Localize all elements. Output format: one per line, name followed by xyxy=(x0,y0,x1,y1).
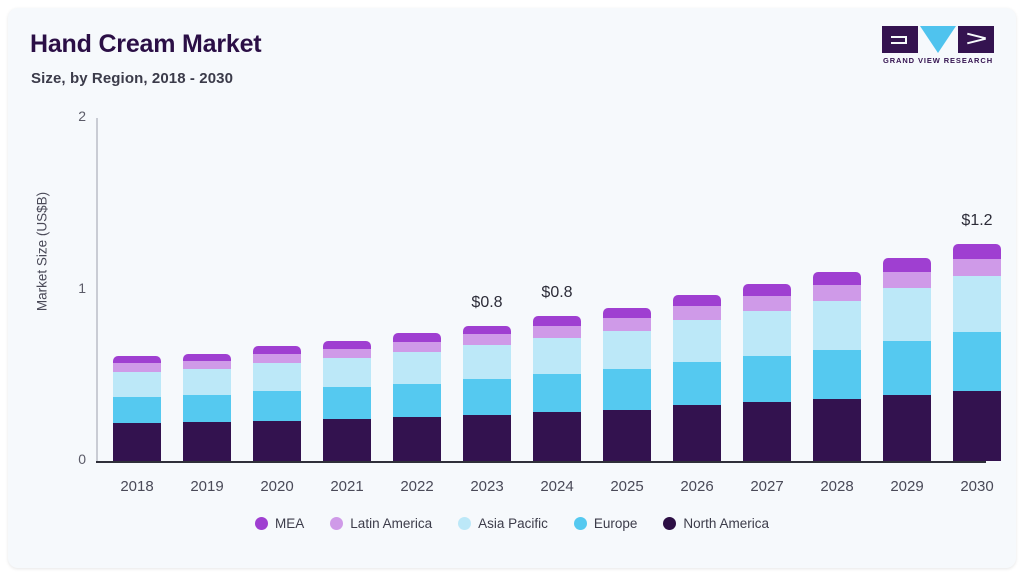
bar-segment[interactable] xyxy=(463,345,511,378)
bar-segment[interactable] xyxy=(323,341,371,349)
bar-segment[interactable] xyxy=(113,397,161,424)
bar-segment[interactable] xyxy=(603,331,651,370)
bar-segment[interactable] xyxy=(813,285,861,300)
bar-stack[interactable] xyxy=(673,295,721,461)
bar-segment[interactable] xyxy=(673,320,721,362)
bar-segment[interactable] xyxy=(953,276,1001,333)
bar-segment[interactable] xyxy=(743,284,791,296)
bar-stack[interactable] xyxy=(393,333,441,461)
bar-segment[interactable] xyxy=(883,395,931,461)
bar-stack[interactable] xyxy=(183,354,231,461)
bar-stack[interactable] xyxy=(253,346,301,461)
bar-segment[interactable] xyxy=(463,326,511,335)
x-axis-tick-label: 2020 xyxy=(242,478,312,495)
bar-segment[interactable] xyxy=(183,422,231,461)
bar-segment[interactable] xyxy=(463,334,511,345)
legend-label: Asia Pacific xyxy=(478,516,548,531)
bar-segment[interactable] xyxy=(393,352,441,384)
x-axis-tick-label: 2028 xyxy=(802,478,872,495)
bar-stack[interactable] xyxy=(463,326,511,461)
bar-segment[interactable] xyxy=(743,311,791,356)
bar-segment[interactable] xyxy=(533,316,581,325)
bar-segment[interactable] xyxy=(533,338,581,374)
x-axis-tick-label: 2023 xyxy=(452,478,522,495)
bar-segment[interactable] xyxy=(393,417,441,461)
bar-segment[interactable] xyxy=(393,342,441,352)
bar-stack[interactable] xyxy=(533,316,581,461)
x-axis-tick-label: 2024 xyxy=(522,478,592,495)
legend-swatch-icon xyxy=(330,517,343,530)
legend-swatch-icon xyxy=(458,517,471,530)
bar-segment[interactable] xyxy=(533,326,581,338)
bar-segment[interactable] xyxy=(883,258,931,272)
bar-segment[interactable] xyxy=(673,306,721,320)
bar-segment[interactable] xyxy=(253,346,301,354)
bar-segment[interactable] xyxy=(183,395,231,422)
x-axis-tick-label: 2029 xyxy=(872,478,942,495)
chart-card: Hand Cream Market Size, by Region, 2018 … xyxy=(8,8,1016,568)
bar-segment[interactable] xyxy=(603,318,651,331)
bar-segment[interactable] xyxy=(533,412,581,461)
bar-stack[interactable] xyxy=(883,258,931,461)
bar-value-label: $0.8 xyxy=(512,284,602,302)
bar-segment[interactable] xyxy=(253,354,301,363)
x-axis-tick-label: 2027 xyxy=(732,478,802,495)
bar-stack[interactable] xyxy=(603,308,651,461)
bar-segment[interactable] xyxy=(743,356,791,402)
bar-segment[interactable] xyxy=(603,410,651,461)
legend-swatch-icon xyxy=(574,517,587,530)
bar-segment[interactable] xyxy=(323,387,371,419)
bar-stack[interactable] xyxy=(743,284,791,461)
bar-stack[interactable] xyxy=(113,356,161,461)
bar-segment[interactable] xyxy=(953,391,1001,461)
bar-segment[interactable] xyxy=(603,369,651,409)
bar-segment[interactable] xyxy=(323,419,371,461)
x-axis-tick-label: 2021 xyxy=(312,478,382,495)
bar-segment[interactable] xyxy=(813,399,861,461)
legend-item[interactable]: North America xyxy=(663,516,769,531)
bar-segment[interactable] xyxy=(253,363,301,390)
bar-segment[interactable] xyxy=(813,350,861,400)
bar-segment[interactable] xyxy=(743,296,791,311)
bar-segment[interactable] xyxy=(393,384,441,417)
bar-segment[interactable] xyxy=(113,356,161,363)
legend-item[interactable]: MEA xyxy=(255,516,304,531)
bar-value-label: $1.2 xyxy=(932,212,1016,230)
bar-segment[interactable] xyxy=(323,358,371,387)
bar-segment[interactable] xyxy=(253,391,301,421)
bar-segment[interactable] xyxy=(953,244,1001,259)
bar-segment[interactable] xyxy=(463,379,511,415)
x-axis-tick-label: 2026 xyxy=(662,478,732,495)
bar-segment[interactable] xyxy=(183,361,231,370)
bar-segment[interactable] xyxy=(533,374,581,413)
bar-segment[interactable] xyxy=(743,402,791,461)
legend-item[interactable]: Europe xyxy=(574,516,638,531)
bar-segment[interactable] xyxy=(393,333,441,342)
legend-label: Latin America xyxy=(350,516,432,531)
x-axis-tick-label: 2022 xyxy=(382,478,452,495)
bar-segment[interactable] xyxy=(673,405,721,461)
bar-segment[interactable] xyxy=(113,372,161,397)
bar-stack[interactable] xyxy=(813,272,861,461)
legend-label: MEA xyxy=(275,516,304,531)
bar-stack[interactable] xyxy=(953,244,1001,461)
legend-label: Europe xyxy=(594,516,638,531)
bar-segment[interactable] xyxy=(673,362,721,406)
bar-segment[interactable] xyxy=(113,363,161,372)
bar-segment[interactable] xyxy=(113,423,161,461)
x-axis-tick-label: 2019 xyxy=(172,478,242,495)
bar-segment[interactable] xyxy=(183,369,231,395)
bar-segment[interactable] xyxy=(323,349,371,358)
legend-swatch-icon xyxy=(663,517,676,530)
legend-label: North America xyxy=(683,516,769,531)
bar-segment[interactable] xyxy=(813,272,861,285)
bar-segment[interactable] xyxy=(953,259,1001,276)
bar-segment[interactable] xyxy=(463,415,511,461)
bar-segment[interactable] xyxy=(253,421,301,461)
x-axis-tick-label: 2030 xyxy=(942,478,1012,495)
legend-swatch-icon xyxy=(255,517,268,530)
bar-segment[interactable] xyxy=(603,308,651,318)
bar-segment[interactable] xyxy=(673,295,721,306)
bar-segment[interactable] xyxy=(883,288,931,341)
x-axis-tick-label: 2025 xyxy=(592,478,662,495)
bar-segment[interactable] xyxy=(183,354,231,361)
chart-page: Hand Cream Market Size, by Region, 2018 … xyxy=(0,0,1024,576)
bar-segment[interactable] xyxy=(883,341,931,395)
bar-stack[interactable] xyxy=(323,341,371,461)
bar-segment[interactable] xyxy=(813,301,861,350)
legend-item[interactable]: Asia Pacific xyxy=(458,516,548,531)
x-axis-tick-label: 2018 xyxy=(102,478,172,495)
bar-segment[interactable] xyxy=(883,272,931,288)
chart-legend: MEALatin AmericaAsia PacificEuropeNorth … xyxy=(8,516,1016,531)
chart-plot-area: Market Size (US$B) 012 $0.8$0.8$1.2 2018… xyxy=(8,8,1016,568)
bar-segment[interactable] xyxy=(953,332,1001,390)
legend-item[interactable]: Latin America xyxy=(330,516,432,531)
